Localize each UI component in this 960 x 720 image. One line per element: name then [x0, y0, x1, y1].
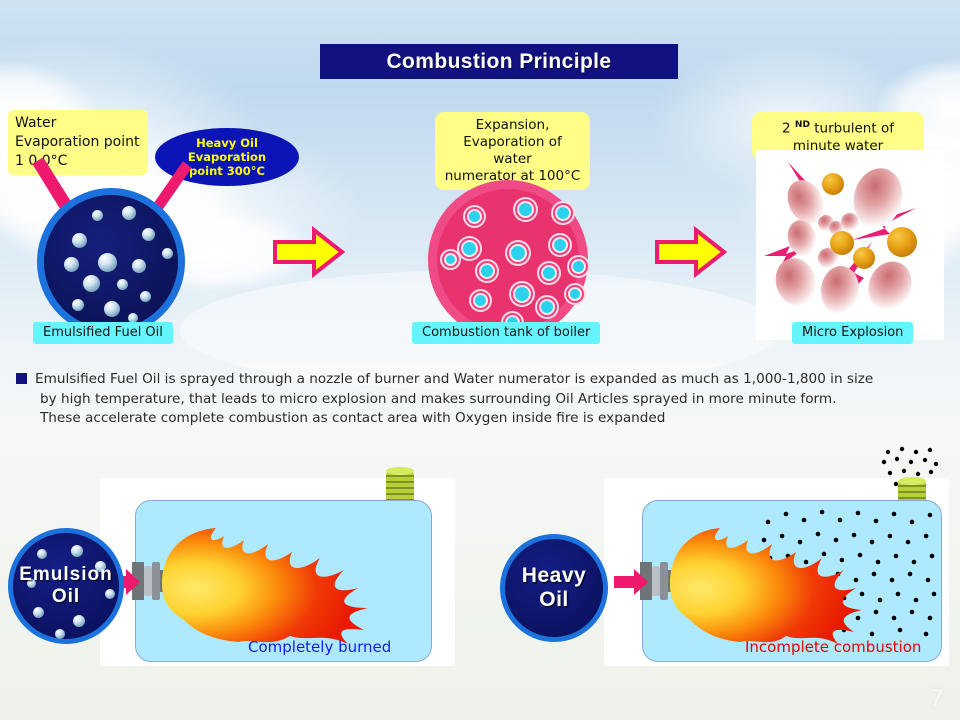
bullet-square-icon	[16, 373, 27, 384]
callout-heavy-line1: Heavy Oil	[188, 136, 266, 150]
body-line-3: These accelerate complete combustion as …	[16, 409, 946, 429]
callout-expansion-line2: Evaporation of water	[443, 134, 582, 168]
flow-arrow-2	[654, 226, 728, 278]
left-oil-circle-label-line1: Emulsion	[19, 564, 113, 585]
left-tank-caption: Completely burned	[248, 638, 391, 656]
body-paragraph: Emulsified Fuel Oil is sprayed through a…	[16, 370, 946, 429]
page-title: Combustion Principle	[386, 50, 611, 74]
callout-turbulent-prefix: 2	[782, 121, 795, 137]
callout-expansion-evaporation: Expansion, Evaporation of water numerato…	[435, 112, 590, 190]
body-line-1: Emulsified Fuel Oil is sprayed through a…	[35, 371, 873, 387]
right-tank-caption: Incomplete combustion	[745, 638, 921, 656]
callout-turbulent-superscript: ND	[795, 120, 810, 130]
stage-circle-emulsified-fuel-oil	[37, 188, 185, 336]
stage-label-emulsified-fuel-oil: Emulsified Fuel Oil	[33, 322, 173, 344]
body-line-2: by high temperature, that leads to micro…	[16, 390, 946, 410]
slide-canvas: Combustion Principle Water Evaporation p…	[0, 0, 960, 720]
slide-title-bar: Combustion Principle	[320, 44, 678, 79]
stage-label-combustion-tank: Combustion tank of boiler	[412, 322, 600, 344]
callout-water-line1: Water	[15, 114, 141, 133]
callout-expansion-line1: Expansion,	[443, 117, 582, 134]
stage-circle-combustion-tank	[428, 180, 588, 340]
micro-explosion-graphic	[760, 160, 950, 320]
right-oil-circle-label-line1: Heavy	[522, 564, 586, 587]
callout-turbulent-line1: turbulent of	[810, 121, 894, 137]
left-oil-circle-label-line2: Oil	[52, 586, 80, 607]
right-oil-circle-heavy: Heavy Oil	[500, 534, 608, 642]
stage-label-micro-explosion: Micro Explosion	[792, 322, 913, 344]
left-oil-circle-emulsion: Emulsion Oil	[8, 528, 124, 644]
page-number: 7	[930, 683, 944, 714]
right-flame-graphic	[666, 518, 866, 650]
left-flame-graphic	[158, 518, 388, 650]
right-feed-arrow	[614, 568, 650, 596]
right-oil-circle-label-line2: Oil	[539, 588, 569, 611]
flow-arrow-1	[272, 226, 346, 278]
